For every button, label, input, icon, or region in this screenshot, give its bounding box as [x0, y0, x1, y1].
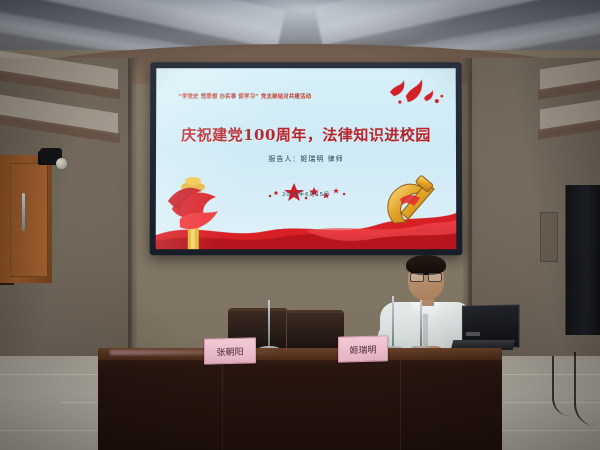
presenter-desk: [98, 350, 502, 450]
door-handle[interactable]: [22, 193, 25, 231]
hammer-sickle-emblem-icon: [380, 175, 442, 235]
equipment-rack: [565, 185, 600, 335]
desk-seam: [400, 360, 401, 450]
wall-control-panel[interactable]: [540, 212, 558, 262]
conference-room-photo: “学党史 悟思想 办实事 促学习” 党支部结对共建活动 庆祝建党100周年，法律…: [0, 0, 600, 450]
left-wall-corner-shadow: [128, 58, 138, 358]
name-placard-right: 姬瑞明: [338, 335, 388, 362]
floor-cable: [574, 352, 596, 426]
door-panel: [10, 163, 48, 277]
slide-subtitle: “学党史 悟思想 办实事 促学习” 党支部结对共建活动: [178, 92, 368, 100]
chair-divider: [286, 310, 287, 352]
slide-date: 2021年6月15日: [156, 190, 456, 198]
wooden-door[interactable]: [0, 155, 52, 283]
glasses-icon: [410, 273, 442, 280]
spotlight-lens-icon: [56, 158, 67, 169]
red-doves-icon: [384, 76, 446, 110]
ceiling-glow: [150, 0, 460, 48]
desk-seam: [222, 360, 223, 450]
huabiao-column-graphic: [166, 167, 222, 249]
laptop-logo: [466, 332, 480, 336]
presentation-screen[interactable]: “学党史 悟思想 办实事 促学习” 党支部结对共建活动 庆祝建党100周年，法律…: [150, 62, 463, 255]
speaker-hair: [406, 255, 446, 275]
screen-surface: “学党史 悟思想 办实事 促学习” 党支部结对共建活动 庆祝建党100周年，法律…: [156, 68, 457, 249]
slide-title: 庆祝建党100周年，法律知识进校园: [156, 124, 456, 145]
slide-presenter: 报告人：姬瑞明 律师: [156, 154, 456, 164]
name-placard-left: 张朝阳: [204, 337, 256, 364]
